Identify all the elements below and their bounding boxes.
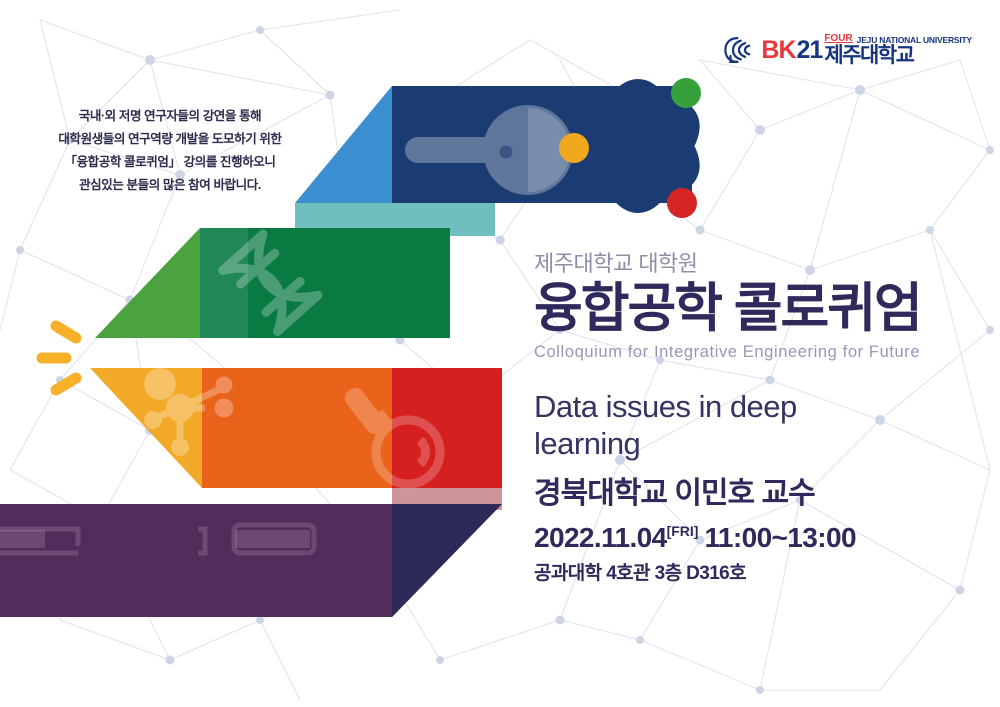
atom-dot-red [667, 188, 697, 218]
subtitle-english: Colloquium for Integrative Engineering f… [534, 343, 984, 363]
event-time: 11:00~13:00 [704, 521, 855, 555]
green-block [95, 228, 450, 338]
event-venue: 공과대학 4호관 3층 D316호 [534, 563, 984, 586]
atom-dot-orange [559, 133, 589, 163]
lecture-title: Data issues in deep learning [534, 389, 864, 462]
bk21-head-profile-icon [722, 33, 756, 67]
page-title: 융합공학 콜로퀴엄 [534, 280, 984, 337]
event-info: 제주대학교 대학원 융합공학 콜로퀴엄 Colloquium for Integ… [534, 252, 984, 586]
orange-block [90, 368, 502, 510]
speaker-name: 경북대학교 이민호 교수 [534, 476, 984, 512]
spark-burst-icon [22, 296, 122, 396]
logo-bk-text: BK [761, 38, 795, 63]
intro-paragraph: 국내·외 저명 연구자들의 강연을 통해 대학원생들의 연구역량 개발을 도모하… [30, 105, 310, 198]
event-date: 2022.11.04 [534, 521, 667, 555]
poster-canvas: BK 21 FOUR JEJU NATIONAL UNIVERSITY 제주대학… [0, 0, 1000, 707]
organizer-kicker: 제주대학교 대학원 [534, 252, 984, 276]
atom-dot-green [671, 78, 701, 108]
logo-21-text: 21 [797, 38, 823, 63]
logo-university-ko: 제주대학교 [824, 45, 972, 66]
event-day-of-week: [FRI] [667, 523, 699, 540]
event-datetime: 2022.11.04 [FRI] 11:00~13:00 [534, 521, 984, 555]
logo-university-en: JEJU NATIONAL UNIVERSITY [857, 36, 972, 45]
atom-icon [558, 66, 718, 226]
purple-block [0, 504, 502, 617]
logo-four-text: FOUR [824, 34, 852, 44]
bk21-logo: BK 21 FOUR JEJU NATIONAL UNIVERSITY 제주대학… [722, 33, 972, 67]
